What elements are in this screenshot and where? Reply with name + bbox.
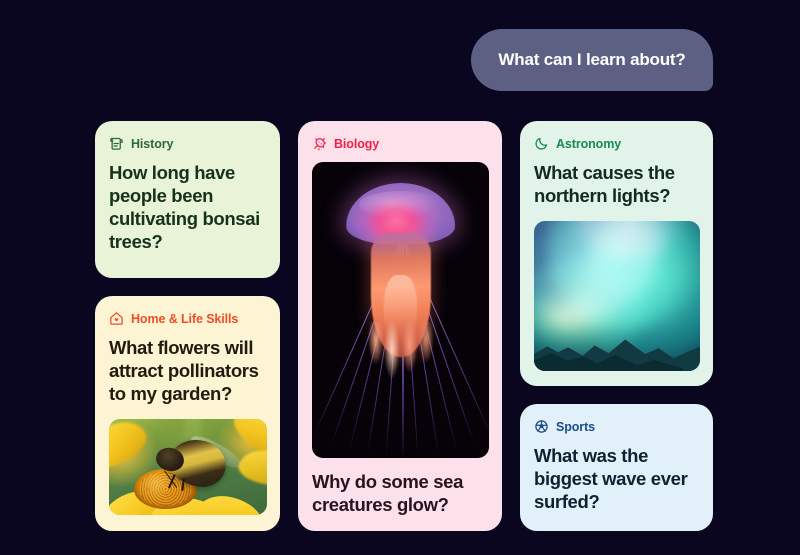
card-biology[interactable]: Biology: [298, 121, 502, 531]
card-history-category: History: [131, 137, 173, 151]
aurora-artwork: [534, 221, 700, 371]
background-petal: [236, 446, 267, 489]
card-history[interactable]: History How long have people been cultiv…: [95, 121, 280, 278]
card-sports-label: Sports: [534, 419, 700, 434]
soccer-ball-icon: [534, 419, 549, 434]
card-column-center: Biology: [298, 121, 502, 531]
chat-bubble-user-prompt: What can I learn about?: [471, 29, 713, 91]
house-heart-icon: [109, 311, 124, 326]
card-sports-category: Sports: [556, 420, 595, 434]
card-biology-image-jellyfish: [312, 162, 489, 458]
card-home-question: What flowers will attract pollinators to…: [109, 337, 267, 406]
card-home-category: Home & Life Skills: [131, 312, 238, 326]
crescent-moon-icon: [534, 136, 549, 151]
bee-on-flower-artwork: [109, 419, 267, 515]
card-biology-question: Why do some sea creatures glow?: [312, 471, 489, 517]
scroll-icon: [109, 136, 124, 151]
card-astronomy-label: Astronomy: [534, 136, 700, 151]
card-column-left: History How long have people been cultiv…: [95, 121, 280, 531]
card-astronomy[interactable]: Astronomy What causes the northern light…: [520, 121, 713, 386]
flower-petal: [193, 487, 267, 515]
jellyfish-artwork: [312, 162, 489, 458]
card-astronomy-question: What causes the northern lights?: [534, 162, 700, 208]
card-history-question: How long have people been cultivating bo…: [109, 162, 267, 254]
card-astronomy-category: Astronomy: [556, 137, 621, 151]
card-biology-label: Biology: [312, 136, 489, 151]
card-astronomy-image-aurora: [534, 221, 700, 371]
suggestion-cards-board: History How long have people been cultiv…: [95, 121, 713, 531]
card-home-image-bee-on-flower: [109, 419, 267, 515]
microbe-icon: [312, 136, 327, 151]
card-column-right: Astronomy What causes the northern light…: [520, 121, 713, 531]
jellyfish-ruffles: [363, 322, 437, 381]
card-home-label: Home & Life Skills: [109, 311, 267, 326]
card-sports[interactable]: Sports What was the biggest wave ever su…: [520, 404, 713, 531]
mountain-silhouette: [534, 320, 700, 371]
card-history-label: History: [109, 136, 267, 151]
card-home-life-skills[interactable]: Home & Life Skills What flowers will att…: [95, 296, 280, 531]
card-sports-question: What was the biggest wave ever surfed?: [534, 445, 700, 514]
chat-bubble-text: What can I learn about?: [498, 50, 685, 70]
background-petal: [109, 419, 152, 476]
card-biology-category: Biology: [334, 137, 379, 151]
